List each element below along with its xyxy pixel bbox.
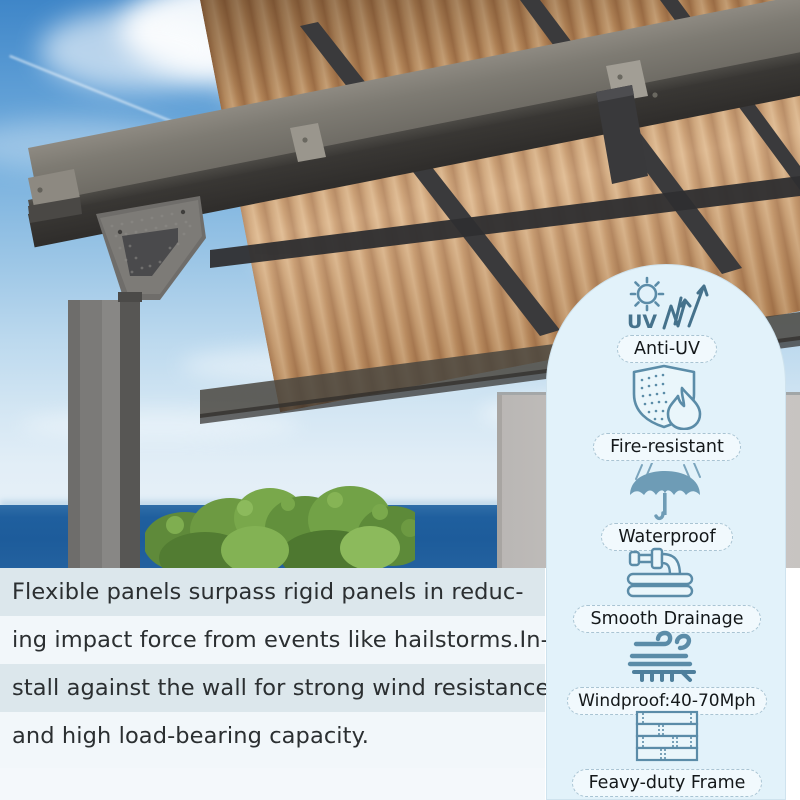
feature-item-smooth-drainage: Smooth Drainage [547, 545, 787, 633]
description-line: and high load-bearing capacity. [0, 712, 545, 760]
anti-uv-icon: UV [619, 275, 715, 333]
feature-label-fire-resistant: Fire-resistant [593, 433, 741, 461]
product-feature-graphic: Flexible panels surpass rigid panels in … [0, 0, 800, 800]
feature-item-fire-resistant: Fire-resistant [547, 363, 787, 461]
windproof-icon [620, 627, 714, 685]
description-text-block: Flexible panels surpass rigid panels in … [0, 568, 545, 800]
feature-label-heavy-duty-frame: Feavy-duty Frame [572, 769, 763, 797]
features-panel: UV Anti-UV [546, 264, 786, 800]
feature-label-anti-uv: Anti-UV [617, 335, 717, 363]
heavy-duty-frame-icon [627, 709, 707, 767]
description-line: stall against the wall for strong wind r… [0, 664, 545, 712]
feature-item-waterproof: Waterproof [547, 463, 787, 551]
feature-item-anti-uv: UV Anti-UV [547, 275, 787, 363]
uv-label: UV [627, 311, 657, 332]
hose-drainage-icon [622, 545, 712, 603]
fire-resistant-icon [624, 363, 710, 431]
description-line: Flexible panels surpass rigid panels in … [0, 568, 545, 616]
description-spacer [0, 760, 545, 768]
feature-item-heavy-duty-frame: Feavy-duty Frame [547, 709, 787, 797]
feature-item-windproof: Windproof:40-70Mph [547, 627, 787, 715]
description-line: ing impact force from events like hailst… [0, 616, 545, 664]
waterproof-umbrella-icon [622, 463, 712, 521]
